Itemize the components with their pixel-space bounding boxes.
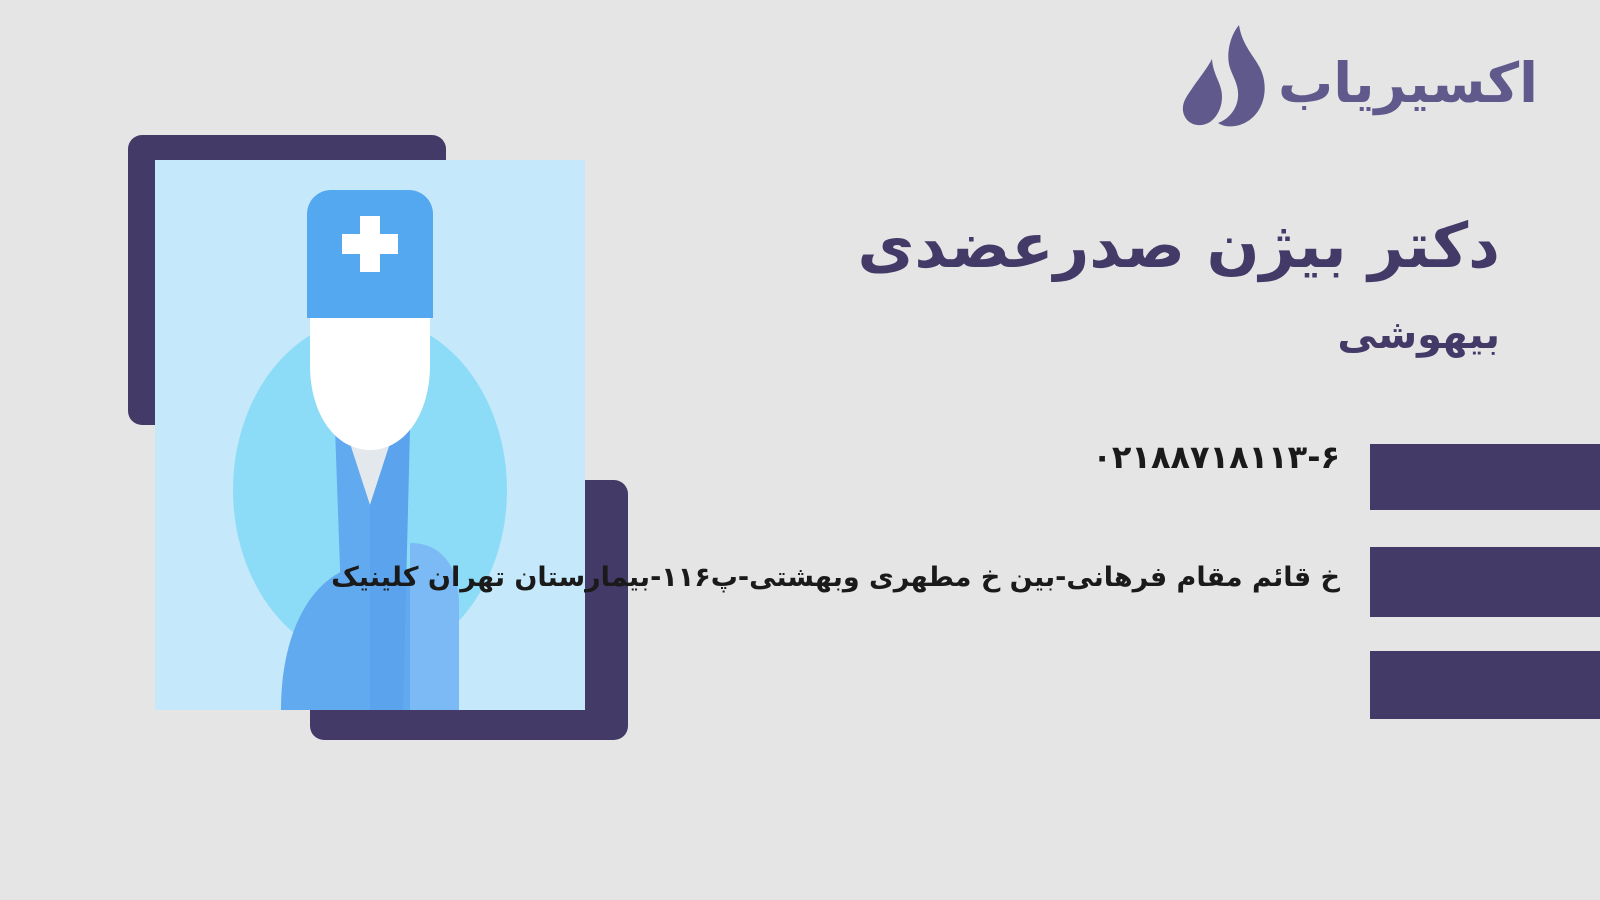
doctor-info-panel: دکتر بیژن صدرعضدی بیهوشی ۰۲۱۸۸۷۱۸۱۱۳-۶ خ… xyxy=(520,210,1500,359)
decor-bar-1 xyxy=(1370,444,1600,510)
card-canvas: اکسیریاب دکتر بیژن xyxy=(0,0,1600,900)
brand-logo[interactable]: اکسیریاب xyxy=(1182,22,1538,132)
doctor-address: خ قائم مقام فرهانی-بین خ مطهری وبهشتی-پ۱… xyxy=(331,562,1340,593)
flame-drop-icon xyxy=(1182,23,1268,131)
decor-bar-2 xyxy=(1370,547,1600,617)
decor-bar-3 xyxy=(1370,651,1600,719)
decor-bars xyxy=(1370,444,1600,719)
doctor-name: دکتر بیژن صدرعضدی xyxy=(520,210,1500,281)
brand-wordmark: اکسیریاب xyxy=(1278,56,1538,111)
doctor-phone[interactable]: ۰۲۱۸۸۷۱۸۱۱۳-۶ xyxy=(1092,438,1340,476)
doctor-specialty: بیهوشی xyxy=(520,311,1500,359)
